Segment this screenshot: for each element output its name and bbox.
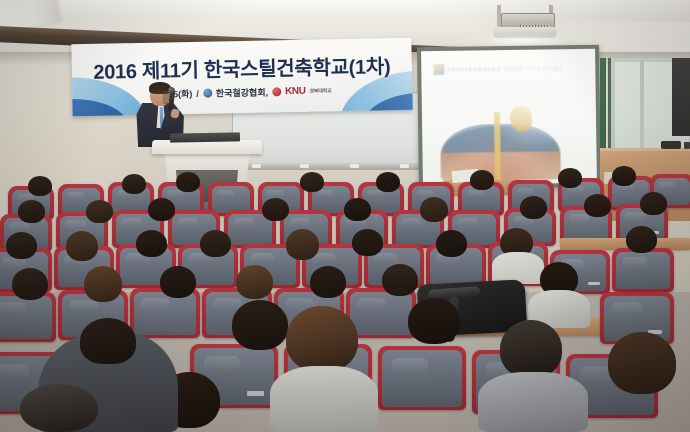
attendee-head <box>236 265 273 299</box>
attendee-shoulders <box>270 366 378 432</box>
ceiling-bevel <box>0 0 690 18</box>
attendee-head <box>66 231 98 261</box>
attendee-head <box>262 198 289 221</box>
seat <box>130 288 200 338</box>
attendee-head <box>310 266 346 298</box>
attendee-head <box>344 198 371 221</box>
attendee-head <box>376 172 400 192</box>
banner-separator: / <box>196 88 199 98</box>
whiteboard-clip <box>350 164 359 168</box>
slide-image-column <box>494 112 501 184</box>
attendee-head <box>122 174 146 194</box>
attendee-head <box>436 230 467 257</box>
attendee-head <box>86 200 113 223</box>
projection-screen-surface: (overexposed slide heading) <box>421 49 597 185</box>
banner-org-secondary-word: KNU <box>285 86 306 97</box>
slide-image-highlight <box>510 106 532 132</box>
counter-object-small <box>684 142 690 149</box>
attendee-head <box>352 229 383 256</box>
microphone-head-icon <box>168 87 175 94</box>
banner-title: 2016 제11기 한국스틸건축학교(1차) <box>72 50 412 86</box>
attendee-head <box>176 172 200 192</box>
ceiling-projector-icon <box>487 5 565 39</box>
attendee-head <box>608 332 676 394</box>
attendee-head <box>500 320 562 378</box>
seat <box>378 346 466 410</box>
attendee-head <box>18 200 45 223</box>
attendee-head <box>584 194 611 217</box>
attendee-head <box>6 232 37 259</box>
attendee-head <box>286 229 319 260</box>
banner-org-primary: 한국철강협회, <box>216 86 268 100</box>
attendee-head <box>232 300 288 350</box>
attendee-head <box>558 168 582 188</box>
attendee-head <box>408 298 460 344</box>
attendee-shoulders <box>492 252 544 284</box>
slide-title: (overexposed slide heading) <box>447 65 562 74</box>
attendee-head <box>20 384 98 432</box>
event-banner: 2016 제11기 한국스틸건축학교(1차) .10.25(화) / 한국철강협… <box>71 38 412 117</box>
kosa-emblem-icon <box>203 89 212 98</box>
attendee-shoulders <box>478 372 588 432</box>
attendee-head <box>28 176 52 196</box>
attendee-head <box>148 198 175 221</box>
foreground-attendee-head <box>80 318 136 364</box>
whiteboard-clip <box>300 164 309 168</box>
attendee-head <box>136 230 167 257</box>
attendee-head <box>12 268 48 300</box>
banner-org-secondary-sub: 경북대학교 <box>309 87 331 94</box>
attendee-head <box>612 166 636 186</box>
slide-logo-icon <box>433 64 444 75</box>
lecture-hall-photo: 2016 제11기 한국스틸건축학교(1차) .10.25(화) / 한국철강협… <box>0 0 690 432</box>
window-dark-panel <box>672 58 690 136</box>
attendee-head <box>420 197 448 222</box>
attendee-head <box>160 266 196 298</box>
attendee-head <box>626 226 657 253</box>
attendee-head <box>520 196 547 219</box>
attendee-head <box>640 192 667 215</box>
knu-emblem-icon <box>272 87 281 96</box>
attendee-head <box>382 264 418 296</box>
attendee-head <box>200 230 231 257</box>
podium-top <box>152 140 262 154</box>
attendee-head <box>84 266 122 302</box>
podium-laptop <box>170 132 240 142</box>
attendee-head <box>300 172 324 192</box>
seat <box>612 248 674 292</box>
whiteboard-clip <box>400 164 409 168</box>
attendee-head <box>470 170 494 190</box>
counter-object-dark <box>661 141 681 149</box>
attendee-head <box>286 306 358 372</box>
